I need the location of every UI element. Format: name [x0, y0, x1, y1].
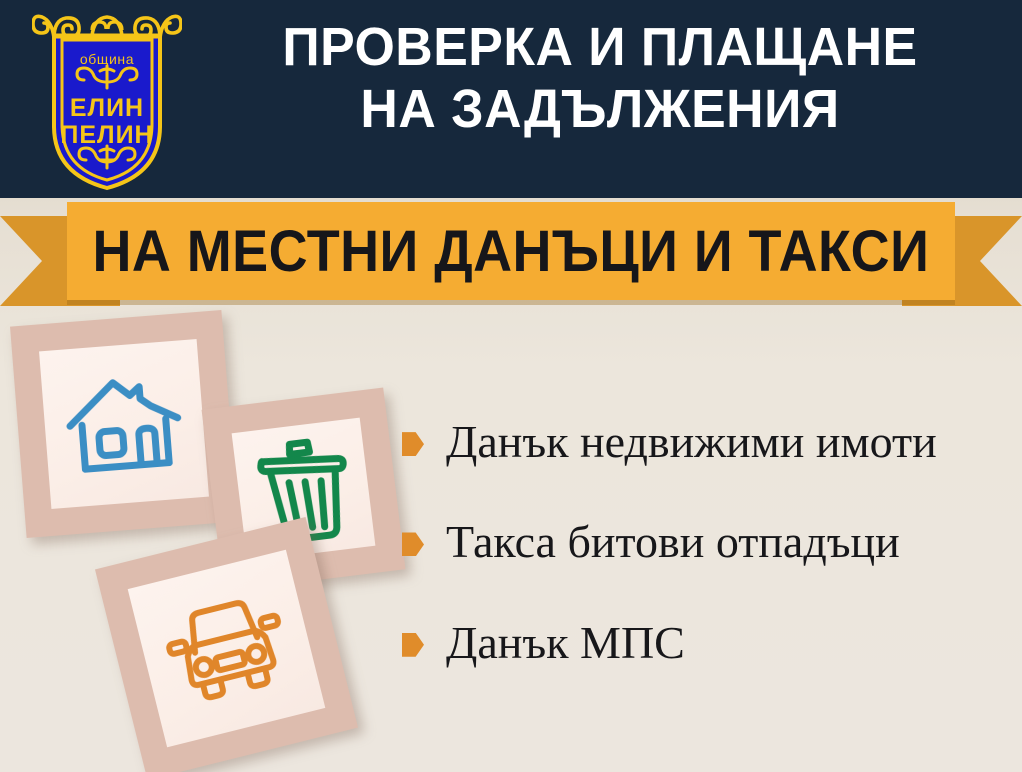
ribbon-label: НА МЕСТНИ ДАНЪЦИ И ТАКСИ	[93, 218, 930, 285]
svg-text:ЕЛИН: ЕЛИН	[70, 94, 144, 122]
list-item-label: Данък недвижими имоти	[446, 418, 937, 466]
bullet-arrow-icon	[402, 432, 424, 456]
tax-types-list: Данък недвижими имоти Такса битови отпад…	[402, 418, 1002, 719]
municipality-logo: община ЕЛИН ПЕЛИН	[32, 8, 182, 193]
list-item: Данък МПС	[402, 619, 1002, 667]
coat-of-arms-icon: община ЕЛИН ПЕЛИН	[32, 8, 182, 193]
list-item: Такса битови отпадъци	[402, 518, 1002, 566]
bullet-arrow-icon	[402, 532, 424, 556]
bullet-arrow-icon	[402, 633, 424, 657]
ribbon-main-panel: НА МЕСТНИ ДАНЪЦИ И ТАКСИ	[67, 202, 955, 300]
ribbon-banner: НА МЕСТНИ ДАНЪЦИ И ТАКСИ	[0, 198, 1022, 306]
list-item-label: Такса битови отпадъци	[446, 518, 900, 566]
poster-canvas: ПРОВЕРКА И ПЛАЩАНЕ НА ЗАДЪЛЖЕНИЯ община	[0, 0, 1022, 772]
list-item-label: Данък МПС	[446, 619, 685, 667]
stamp-inner-panel	[39, 339, 209, 509]
list-item: Данък недвижими имоти	[402, 418, 1002, 466]
house-icon	[60, 365, 188, 482]
car-front-icon	[157, 587, 297, 709]
page-title: ПРОВЕРКА И ПЛАЩАНЕ НА ЗАДЪЛЖЕНИЯ	[206, 16, 993, 140]
